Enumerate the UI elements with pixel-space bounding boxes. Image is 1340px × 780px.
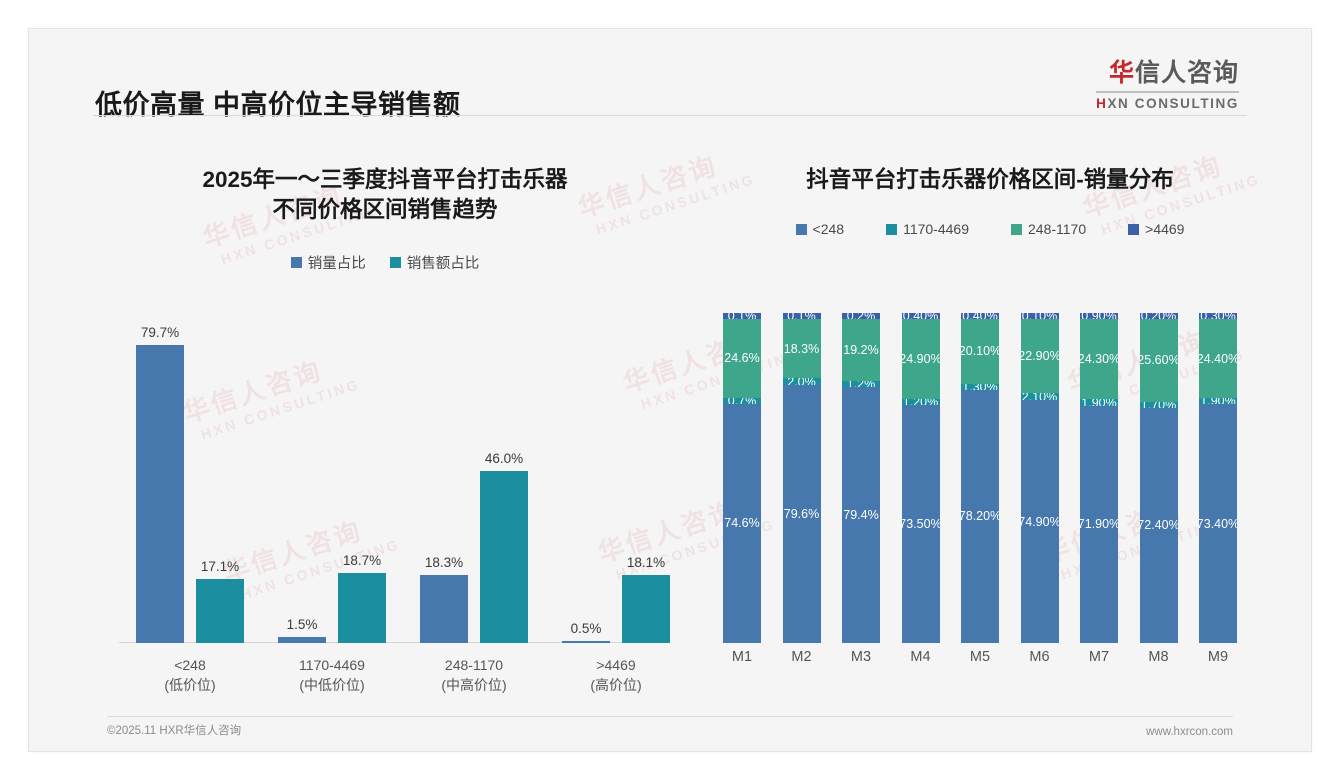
right-chart-segment[interactable]: 18.3% bbox=[783, 319, 821, 378]
right-chart-segment[interactable]: 19.2% bbox=[842, 319, 880, 381]
right-chart-segment[interactable]: 79.4% bbox=[842, 387, 880, 643]
left-chart-panel: 2025年一～三季度抖音平台打击乐器不同价格区间销售趋势 2025年一～三季度抖… bbox=[83, 139, 687, 699]
right-chart-segment[interactable]: 78.20% bbox=[961, 390, 999, 643]
right-chart-segment-value-label: 20.10% bbox=[961, 344, 999, 358]
right-chart-segment-value-label: 24.40% bbox=[1199, 352, 1237, 366]
right-chart-segment[interactable]: 2.10% bbox=[1021, 393, 1059, 400]
right-chart-segment[interactable]: 20.10% bbox=[961, 319, 999, 384]
company-logo: 华信人咨询 HXN CONSULTING bbox=[1096, 61, 1239, 111]
right-chart-segment[interactable]: 71.90% bbox=[1080, 406, 1118, 643]
left-chart-bar-value-label: 18.3% bbox=[425, 555, 463, 570]
legend-swatch-icon bbox=[1011, 224, 1022, 235]
right-chart-month-label: M4 bbox=[894, 649, 948, 665]
legend-label: 销售额占比 bbox=[407, 252, 480, 273]
right-chart-plot-area: 0.1%24.6%0.7%74.6%M10.1%18.3%2.0%79.6%M2… bbox=[709, 325, 1271, 697]
right-chart-segment-value-label: 78.20% bbox=[961, 509, 999, 523]
right-chart-column: 0.40%24.90%1.20%73.50%M4 bbox=[894, 313, 948, 643]
legend-item-1170-4469[interactable]: 1170-4469 bbox=[886, 221, 969, 237]
right-chart-panel: 抖音平台打击乐器价格区间-销量分布 <2481170-4469248-1170>… bbox=[701, 139, 1279, 699]
right-chart-month-label: M9 bbox=[1191, 649, 1245, 665]
footer-website[interactable]: www.hxrcon.com bbox=[1146, 726, 1233, 738]
left-chart-bar-wrapper: 18.1% bbox=[622, 575, 670, 643]
left-chart-group: 0.5%18.1%>4469(高价位) bbox=[545, 325, 687, 643]
right-chart-segment-value-label: 25.60% bbox=[1140, 353, 1178, 367]
right-chart-segment-value-label: 79.6% bbox=[784, 507, 819, 521]
right-chart-stack: 0.1%24.6%0.7%74.6% bbox=[723, 313, 761, 643]
right-chart-segment[interactable]: 25.60% bbox=[1140, 319, 1178, 402]
legend-item-sales-volume[interactable]: 销量占比 bbox=[291, 252, 366, 273]
right-chart-stack: 0.2%19.2%1.2%79.4% bbox=[842, 313, 880, 643]
right-chart-stack: 0.10%22.90%2.10%74.90% bbox=[1021, 313, 1059, 643]
right-chart-stack: 0.20%25.60%1.70%72.40% bbox=[1140, 313, 1178, 643]
right-chart-month-label: M2 bbox=[775, 649, 829, 665]
right-chart-segment[interactable]: 79.6% bbox=[783, 385, 821, 643]
left-chart-group: 18.3%46.0%248-1170(中高价位) bbox=[403, 325, 545, 643]
right-chart-segment-value-label: 24.30% bbox=[1080, 352, 1118, 366]
right-chart-column: 0.2%19.2%1.2%79.4%M3 bbox=[834, 313, 888, 643]
right-chart-legend: <2481170-4469248-1170>4469 bbox=[701, 221, 1279, 237]
slide-header: 低价高量 中高价位主导销售额 华信人咨询 HXN CONSULTING bbox=[29, 29, 1311, 115]
left-chart-group: 79.7%17.1%<248(低价位) bbox=[119, 325, 261, 643]
legend-item-sales-amount[interactable]: 销售额占比 bbox=[390, 252, 480, 273]
right-chart-title: 抖音平台打击乐器价格区间-销量分布 bbox=[701, 139, 1279, 195]
right-chart-column: 0.90%24.30%1.90%71.90%M7 bbox=[1072, 313, 1126, 643]
right-chart-segment[interactable]: 72.40% bbox=[1140, 408, 1178, 643]
category-range: <248 bbox=[119, 655, 261, 675]
right-chart-stack: 0.40%24.90%1.20%73.50% bbox=[902, 313, 940, 643]
slide-canvas: 低价高量 中高价位主导销售额 华信人咨询 HXN CONSULTING 华信人咨… bbox=[28, 28, 1312, 752]
legend-label: 1170-4469 bbox=[903, 221, 969, 237]
left-chart-bar[interactable] bbox=[480, 471, 528, 643]
logo-english-text: HXN CONSULTING bbox=[1096, 97, 1239, 111]
right-chart-segment[interactable]: 73.40% bbox=[1199, 404, 1237, 643]
right-chart-stack: 0.30%24.40%1.90%73.40% bbox=[1199, 313, 1237, 643]
left-chart-group-bars: 79.7%17.1% bbox=[119, 325, 261, 643]
left-chart-category-label: 1170-4469(中低价位) bbox=[261, 643, 403, 696]
left-chart-bar[interactable] bbox=[622, 575, 670, 643]
left-chart-plot-area: 79.7%17.1%<248(低价位)1.5%18.7%1170-4469(中低… bbox=[101, 325, 669, 697]
left-chart-title-row1: 2025年一～三季度抖音平台打击乐器 bbox=[83, 165, 687, 195]
right-chart-title-row1: 抖音平台打击乐器价格区间-销量分布 bbox=[701, 165, 1279, 195]
category-range: 1170-4469 bbox=[261, 655, 403, 675]
left-chart-category-label: 248-1170(中高价位) bbox=[403, 643, 545, 696]
right-chart-column: 0.1%18.3%2.0%79.6%M2 bbox=[775, 313, 829, 643]
left-chart-title: 2025年一～三季度抖音平台打击乐器不同价格区间销售趋势 2025年一～三季度抖… bbox=[83, 139, 687, 226]
category-tier: (高价位) bbox=[545, 675, 687, 695]
right-chart-segment[interactable]: 24.6% bbox=[723, 319, 761, 398]
legend-item-248[interactable]: <248 bbox=[796, 221, 845, 237]
legend-label: 销量占比 bbox=[308, 252, 366, 273]
right-chart-column: 0.1%24.6%0.7%74.6%M1 bbox=[715, 313, 769, 643]
category-range: >4469 bbox=[545, 655, 687, 675]
left-chart-bar-wrapper: 79.7% bbox=[136, 345, 184, 643]
left-chart-bar-wrapper: 46.0% bbox=[480, 471, 528, 643]
logo-en-rest: XN CONSULTING bbox=[1107, 96, 1239, 111]
right-chart-column: 0.30%24.40%1.90%73.40%M9 bbox=[1191, 313, 1245, 643]
right-chart-segment[interactable]: 24.40% bbox=[1199, 319, 1237, 398]
left-chart-group-bars: 1.5%18.7% bbox=[261, 325, 403, 643]
right-chart-stack: 0.40%20.10%1.30%78.20% bbox=[961, 313, 999, 643]
right-chart-segment-value-label: 24.6% bbox=[724, 351, 759, 365]
right-chart-month-label: M1 bbox=[715, 649, 769, 665]
left-chart-bar[interactable] bbox=[196, 579, 244, 643]
right-chart-segment[interactable]: 24.30% bbox=[1080, 319, 1118, 399]
category-tier: (中高价位) bbox=[403, 675, 545, 695]
right-chart-column: 0.40%20.10%1.30%78.20%M5 bbox=[953, 313, 1007, 643]
right-chart-segment[interactable]: 24.90% bbox=[902, 319, 940, 400]
right-chart-segment[interactable]: 73.50% bbox=[902, 405, 940, 643]
right-chart-column: 0.10%22.90%2.10%74.90%M6 bbox=[1013, 313, 1067, 643]
left-chart-legend: 销量占比 销售额占比 bbox=[83, 252, 687, 273]
right-chart-stack: 0.1%18.3%2.0%79.6% bbox=[783, 313, 821, 643]
logo-rest-chars: 信人咨询 bbox=[1135, 59, 1239, 87]
legend-swatch-icon bbox=[291, 257, 302, 268]
page-title: 低价高量 中高价位主导销售额 bbox=[95, 83, 461, 122]
left-chart-bar-wrapper: 18.7% bbox=[338, 573, 386, 643]
right-chart-segment-value-label: 19.2% bbox=[843, 343, 878, 357]
category-tier: (低价位) bbox=[119, 675, 261, 695]
legend-label: 248-1170 bbox=[1028, 221, 1086, 237]
right-chart-segment[interactable]: 74.6% bbox=[723, 404, 761, 643]
right-chart-segment-value-label: 2.10% bbox=[1022, 393, 1057, 400]
left-chart-bar[interactable] bbox=[136, 345, 184, 643]
right-chart-segment-value-label: 73.50% bbox=[902, 517, 940, 531]
left-chart-bar-value-label: 18.1% bbox=[627, 555, 665, 570]
left-chart-bar-wrapper: 18.3% bbox=[420, 575, 468, 643]
category-tier: (中低价位) bbox=[261, 675, 403, 695]
left-chart-bar-value-label: 46.0% bbox=[485, 451, 523, 466]
left-chart-group: 1.5%18.7%1170-4469(中低价位) bbox=[261, 325, 403, 643]
legend-swatch-icon bbox=[1128, 224, 1139, 235]
logo-divider bbox=[1096, 91, 1239, 93]
right-chart-segment-value-label: 74.90% bbox=[1021, 515, 1059, 529]
left-chart-title-row2: 不同价格区间销售趋势 bbox=[83, 195, 687, 225]
right-chart-month-label: M5 bbox=[953, 649, 1007, 665]
legend-swatch-icon bbox=[796, 224, 807, 235]
right-chart-stack: 0.90%24.30%1.90%71.90% bbox=[1080, 313, 1118, 643]
right-chart-segment[interactable]: 74.90% bbox=[1021, 400, 1059, 643]
right-chart-segment-value-label: 73.40% bbox=[1199, 517, 1237, 531]
left-chart-group-bars: 18.3%46.0% bbox=[403, 325, 545, 643]
right-chart-segment-value-label: 18.3% bbox=[784, 342, 819, 356]
left-chart-bar-value-label: 17.1% bbox=[201, 559, 239, 574]
right-chart-segment-value-label: 24.90% bbox=[902, 352, 940, 366]
right-chart-segment-value-label: 22.90% bbox=[1021, 349, 1059, 363]
left-chart-bar-value-label: 0.5% bbox=[571, 621, 602, 636]
logo-chinese-text: 华信人咨询 bbox=[1096, 61, 1239, 86]
right-chart-segment-value-label: 71.90% bbox=[1080, 517, 1118, 531]
left-chart-bar-value-label: 79.7% bbox=[141, 325, 179, 340]
left-chart-bar[interactable] bbox=[338, 573, 386, 643]
right-chart-month-label: M6 bbox=[1013, 649, 1067, 665]
right-chart-month-label: M8 bbox=[1132, 649, 1186, 665]
left-chart-bar[interactable] bbox=[420, 575, 468, 643]
header-divider bbox=[93, 115, 1247, 116]
legend-label: <248 bbox=[813, 221, 845, 237]
legend-label: >4469 bbox=[1145, 221, 1184, 237]
legend-swatch-icon bbox=[390, 257, 401, 268]
left-chart-category-label: <248(低价位) bbox=[119, 643, 261, 696]
legend-item-248-1170[interactable]: 248-1170 bbox=[1011, 221, 1086, 237]
right-chart-segment-value-label: 72.40% bbox=[1140, 518, 1178, 532]
left-chart-category-label: >4469(高价位) bbox=[545, 643, 687, 696]
right-chart-month-label: M7 bbox=[1072, 649, 1126, 665]
left-chart-bar-wrapper: 17.1% bbox=[196, 579, 244, 643]
legend-item-4469[interactable]: >4469 bbox=[1128, 221, 1184, 237]
right-chart-month-label: M3 bbox=[834, 649, 888, 665]
left-chart-bar-value-label: 1.5% bbox=[287, 617, 318, 632]
footer-copyright: ©2025.11 HXR华信人咨询 bbox=[107, 722, 241, 738]
logo-en-accent-char: H bbox=[1096, 96, 1107, 111]
left-chart-group-bars: 0.5%18.1% bbox=[545, 325, 687, 643]
left-chart-bar-value-label: 18.7% bbox=[343, 553, 381, 568]
right-chart-column: 0.20%25.60%1.70%72.40%M8 bbox=[1132, 313, 1186, 643]
right-chart-segment-value-label: 79.4% bbox=[843, 508, 878, 522]
logo-accent-char: 华 bbox=[1109, 59, 1135, 87]
right-chart-segment[interactable]: 22.90% bbox=[1021, 319, 1059, 393]
legend-swatch-icon bbox=[886, 224, 897, 235]
right-chart-segment-value-label: 74.6% bbox=[724, 516, 759, 530]
category-range: 248-1170 bbox=[403, 655, 545, 675]
footer-divider bbox=[107, 716, 1233, 717]
